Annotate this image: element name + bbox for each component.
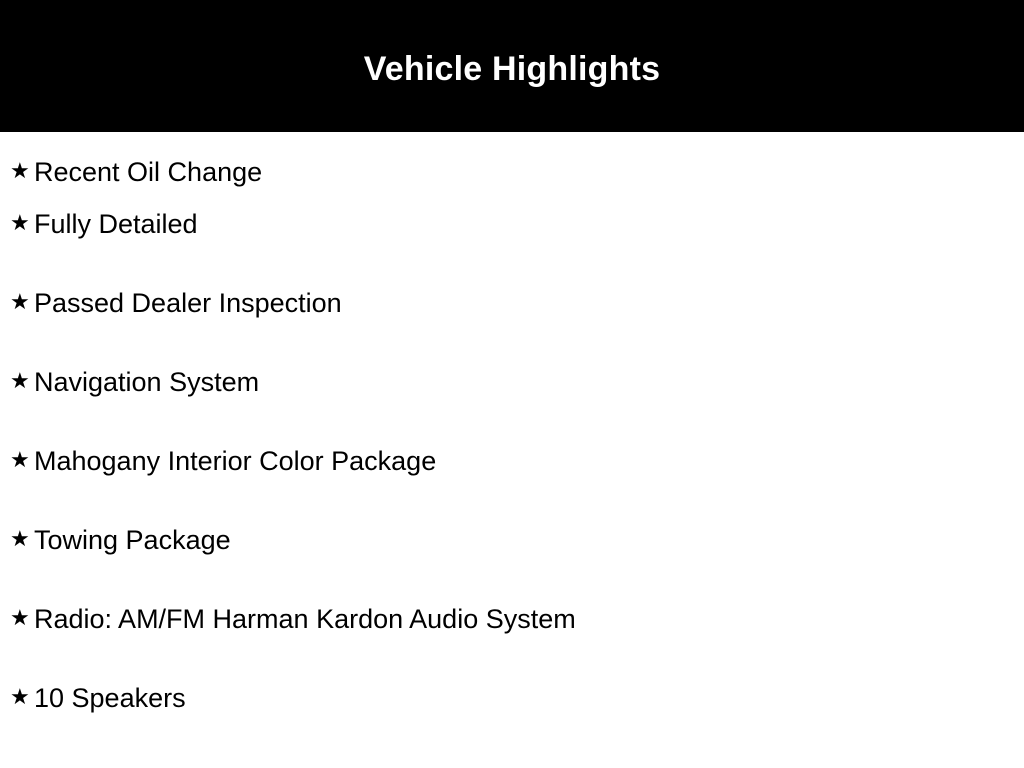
star-icon: ★ [0,529,34,551]
highlight-label: Passed Dealer Inspection [34,290,342,317]
list-item: ★ Passed Dealer Inspection [0,290,1024,369]
star-icon: ★ [0,450,34,472]
list-item: ★ Radio: AM/FM Harman Kardon Audio Syste… [0,606,1024,685]
highlight-label: 10 Speakers [34,685,186,712]
star-icon: ★ [0,213,34,235]
highlight-label: Fully Detailed [34,211,198,238]
star-icon: ★ [0,608,34,630]
star-icon: ★ [0,292,34,314]
star-icon: ★ [0,687,34,709]
highlight-label: Radio: AM/FM Harman Kardon Audio System [34,606,576,633]
vehicle-highlights-page: Vehicle Highlights ★ Recent Oil Change ★… [0,0,1024,768]
star-icon: ★ [0,371,34,393]
list-item: ★ Navigation System [0,369,1024,448]
list-item: ★ 10 Speakers [0,685,1024,764]
highlight-label: Mahogany Interior Color Package [34,448,436,475]
highlight-label: Recent Oil Change [34,159,262,186]
highlight-label: Navigation System [34,369,259,396]
highlight-label: Towing Package [34,527,231,554]
list-item: ★ Recent Oil Change [0,132,1024,211]
header-banner: Vehicle Highlights [0,0,1024,132]
star-icon: ★ [0,161,34,183]
vehicle-highlights-list: ★ Recent Oil Change ★ Fully Detailed ★ P… [0,132,1024,764]
page-title: Vehicle Highlights [364,52,660,86]
list-item: ★ Mahogany Interior Color Package [0,448,1024,527]
list-item: ★ Fully Detailed [0,211,1024,290]
list-item: ★ Towing Package [0,527,1024,606]
